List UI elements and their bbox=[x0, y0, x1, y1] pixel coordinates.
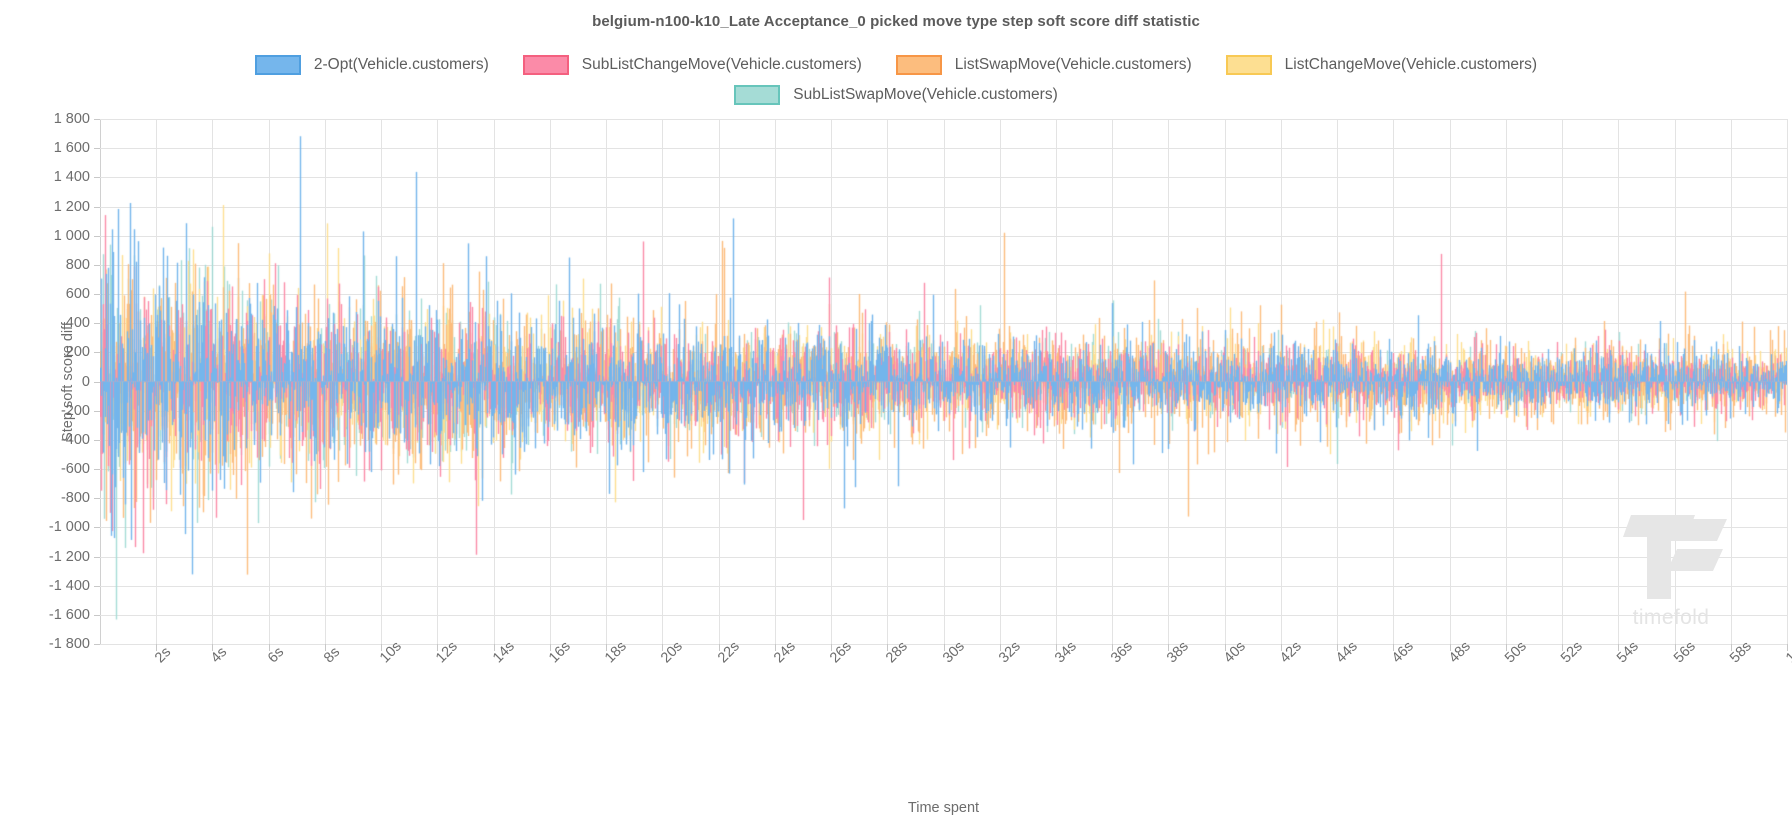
y-axis-tick-mark bbox=[94, 294, 100, 295]
y-axis-tick-label: 800 bbox=[12, 257, 90, 273]
y-axis-tick-label: -400 bbox=[12, 432, 90, 448]
y-axis-tick-label: -1 400 bbox=[12, 578, 90, 594]
y-axis-tick-mark bbox=[94, 207, 100, 208]
y-axis-tick-mark bbox=[94, 323, 100, 324]
legend-item-sublistswapmove[interactable]: SubListSwapMove(Vehicle.customers) bbox=[734, 85, 1057, 105]
y-axis-tick-label: 1 600 bbox=[12, 140, 90, 156]
x-axis-title: Time spent bbox=[100, 800, 1787, 816]
legend-label-listswapmove: ListSwapMove(Vehicle.customers) bbox=[955, 56, 1192, 74]
legend-label-2-opt: 2-Opt(Vehicle.customers) bbox=[314, 56, 489, 74]
y-axis-tick-label: 1 200 bbox=[12, 199, 90, 215]
y-axis-tick-mark bbox=[94, 411, 100, 412]
y-axis-tick-label: 1 400 bbox=[12, 169, 90, 185]
x-gridline bbox=[1787, 119, 1788, 644]
y-axis-tick-mark bbox=[94, 469, 100, 470]
y-axis-tick-mark bbox=[94, 265, 100, 266]
legend-row-1: 2-Opt(Vehicle.customers) SubListChangeMo… bbox=[0, 50, 1792, 80]
y-axis-tick-label: -1 800 bbox=[12, 636, 90, 652]
y-axis-tick-mark bbox=[94, 148, 100, 149]
legend-row-2: SubListSwapMove(Vehicle.customers) bbox=[0, 80, 1792, 110]
legend-item-sublistchangemove[interactable]: SubListChangeMove(Vehicle.customers) bbox=[523, 55, 862, 75]
y-axis-tick-label: 200 bbox=[12, 344, 90, 360]
legend-label-sublistswapmove: SubListSwapMove(Vehicle.customers) bbox=[793, 86, 1057, 104]
y-axis-tick-mark bbox=[94, 352, 100, 353]
y-axis-tick-mark bbox=[94, 615, 100, 616]
plot-area: 1 8001 6001 4001 2001 0008006004002000-2… bbox=[100, 119, 1787, 644]
legend-label-listchangemove: ListChangeMove(Vehicle.customers) bbox=[1285, 56, 1537, 74]
y-axis-tick-mark bbox=[94, 527, 100, 528]
y-axis-tick-label: -1 200 bbox=[12, 549, 90, 565]
legend-label-sublistchangemove: SubListChangeMove(Vehicle.customers) bbox=[582, 56, 862, 74]
y-axis-tick-label: 600 bbox=[12, 286, 90, 302]
y-axis-tick-label: -800 bbox=[12, 490, 90, 506]
page-title: belgium-n100-k10_Late Acceptance_0 picke… bbox=[0, 13, 1792, 30]
legend-swatch-icon-sublistchangemove bbox=[523, 55, 569, 75]
y-axis-tick-mark bbox=[94, 440, 100, 441]
y-axis-tick-label: -1 600 bbox=[12, 607, 90, 623]
y-axis-tick-mark bbox=[94, 177, 100, 178]
y-axis-tick-mark bbox=[94, 498, 100, 499]
y-axis-tick-label: -1 000 bbox=[12, 519, 90, 535]
series-canvas bbox=[100, 119, 1787, 644]
y-axis-tick-label: 1 000 bbox=[12, 228, 90, 244]
chart-page: belgium-n100-k10_Late Acceptance_0 picke… bbox=[0, 0, 1792, 832]
y-axis-tick-mark bbox=[94, 557, 100, 558]
legend-swatch-icon-2-opt bbox=[255, 55, 301, 75]
legend-swatch-icon-listswapmove bbox=[896, 55, 942, 75]
y-axis-tick-mark bbox=[94, 119, 100, 120]
y-axis-tick-label: -600 bbox=[12, 461, 90, 477]
legend-swatch-icon-sublistswapmove bbox=[734, 85, 780, 105]
chart-legend: 2-Opt(Vehicle.customers) SubListChangeMo… bbox=[0, 50, 1792, 110]
y-axis-tick-label: 1 800 bbox=[12, 111, 90, 127]
y-axis-tick-mark bbox=[94, 586, 100, 587]
y-axis-tick-mark bbox=[94, 382, 100, 383]
legend-item-2-opt[interactable]: 2-Opt(Vehicle.customers) bbox=[255, 55, 489, 75]
y-axis-tick-label: -200 bbox=[12, 403, 90, 419]
y-axis-tick-label: 0 bbox=[12, 374, 90, 390]
legend-item-listswapmove[interactable]: ListSwapMove(Vehicle.customers) bbox=[896, 55, 1192, 75]
legend-swatch-icon-listchangemove bbox=[1226, 55, 1272, 75]
y-axis-tick-mark bbox=[94, 236, 100, 237]
legend-item-listchangemove[interactable]: ListChangeMove(Vehicle.customers) bbox=[1226, 55, 1537, 75]
y-axis-tick-label: 400 bbox=[12, 315, 90, 331]
y-axis-tick-mark bbox=[94, 644, 100, 645]
